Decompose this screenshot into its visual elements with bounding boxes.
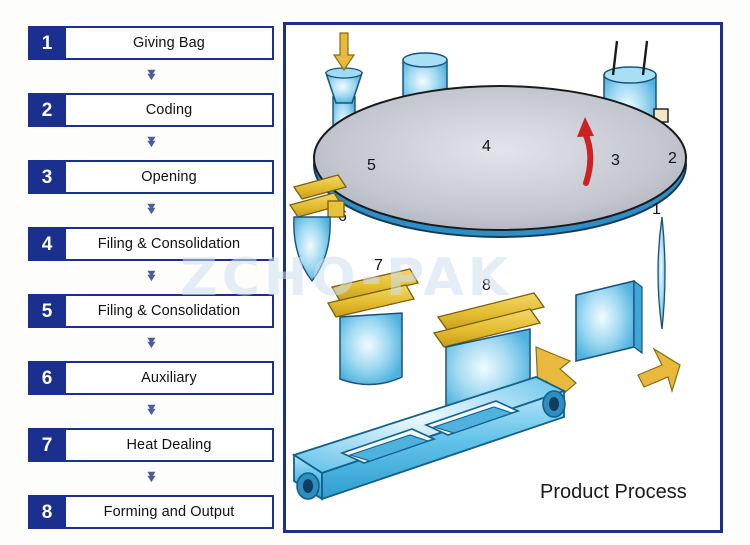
flow-step-label: Forming and Output: [64, 497, 272, 527]
flow-step-number: 5: [30, 296, 64, 326]
flow-step-3[interactable]: 3 Opening: [28, 160, 274, 194]
flow-step-7[interactable]: 7 Heat Dealing: [28, 428, 274, 462]
chevron-down-icon: ▼▼: [144, 408, 158, 416]
station-7-sealing-jaws: [328, 269, 418, 385]
station-label-7: 7: [374, 257, 383, 274]
product-process-caption: Product Process: [540, 481, 687, 504]
flow-step-2[interactable]: 2 Coding: [28, 93, 274, 127]
flow-step-number: 2: [30, 95, 64, 125]
machine-diagram: 1 2 3 4 5 6 7 8: [286, 25, 720, 530]
flow-connector-3: ▼▼: [28, 194, 274, 227]
flow-step-label: Heat Dealing: [64, 430, 272, 460]
flow-step-number: 4: [30, 229, 64, 259]
flow-connector-4: ▼▼: [28, 261, 274, 294]
chevron-down-icon: ▼▼: [144, 341, 158, 349]
infeed-arrow-icon: [638, 349, 680, 391]
chevron-down-icon: ▼▼: [144, 140, 158, 148]
flow-connector-1: ▼▼: [28, 60, 274, 93]
chevron-down-icon: ▼▼: [144, 207, 158, 215]
flow-connector-6: ▼▼: [28, 395, 274, 428]
chevron-down-icon: ▼▼: [144, 475, 158, 483]
flow-step-6[interactable]: 6 Auxiliary: [28, 361, 274, 395]
flow-step-number: 1: [30, 28, 64, 58]
flow-step-label: Filing & Consolidation: [64, 296, 272, 326]
station-label-8: 8: [482, 277, 491, 294]
flow-step-label: Auxiliary: [64, 363, 272, 393]
station-label-2: 2: [668, 150, 677, 167]
flow-step-number: 3: [30, 162, 64, 192]
process-flow-list: 1 Giving Bag ▼▼ 2 Coding ▼▼ 3 Opening ▼▼…: [28, 26, 274, 536]
station-label-3: 3: [611, 152, 620, 169]
blade-shape: [658, 217, 665, 329]
conveyor-belt: [294, 377, 565, 499]
station-label-1: 1: [652, 201, 661, 218]
chevron-down-icon: ▼▼: [144, 274, 158, 282]
flow-step-label: Opening: [64, 162, 272, 192]
flow-step-1[interactable]: 1 Giving Bag: [28, 26, 274, 60]
illustration-panel: 1 2 3 4 5 6 7 8: [283, 22, 723, 533]
station-label-4: 4: [482, 138, 491, 155]
flow-connector-7: ▼▼: [28, 462, 274, 495]
station-label-5: 5: [367, 157, 376, 174]
flow-step-4[interactable]: 4 Filing & Consolidation: [28, 227, 274, 261]
flow-step-number: 7: [30, 430, 64, 460]
flow-step-number: 6: [30, 363, 64, 393]
flow-connector-5: ▼▼: [28, 328, 274, 361]
flow-step-label: Giving Bag: [64, 28, 272, 58]
chevron-down-icon: ▼▼: [144, 73, 158, 81]
finished-pouch: [576, 281, 642, 361]
screenshot-root: 1 Giving Bag ▼▼ 2 Coding ▼▼ 3 Opening ▼▼…: [0, 0, 750, 545]
flow-step-number: 8: [30, 497, 64, 527]
flow-step-5[interactable]: 5 Filing & Consolidation: [28, 294, 274, 328]
flow-step-8[interactable]: 8 Forming and Output: [28, 495, 274, 529]
flow-connector-2: ▼▼: [28, 127, 274, 160]
flow-step-label: Filing & Consolidation: [64, 229, 272, 259]
feed-arrow-down-icon: [334, 33, 354, 70]
flow-step-label: Coding: [64, 95, 272, 125]
